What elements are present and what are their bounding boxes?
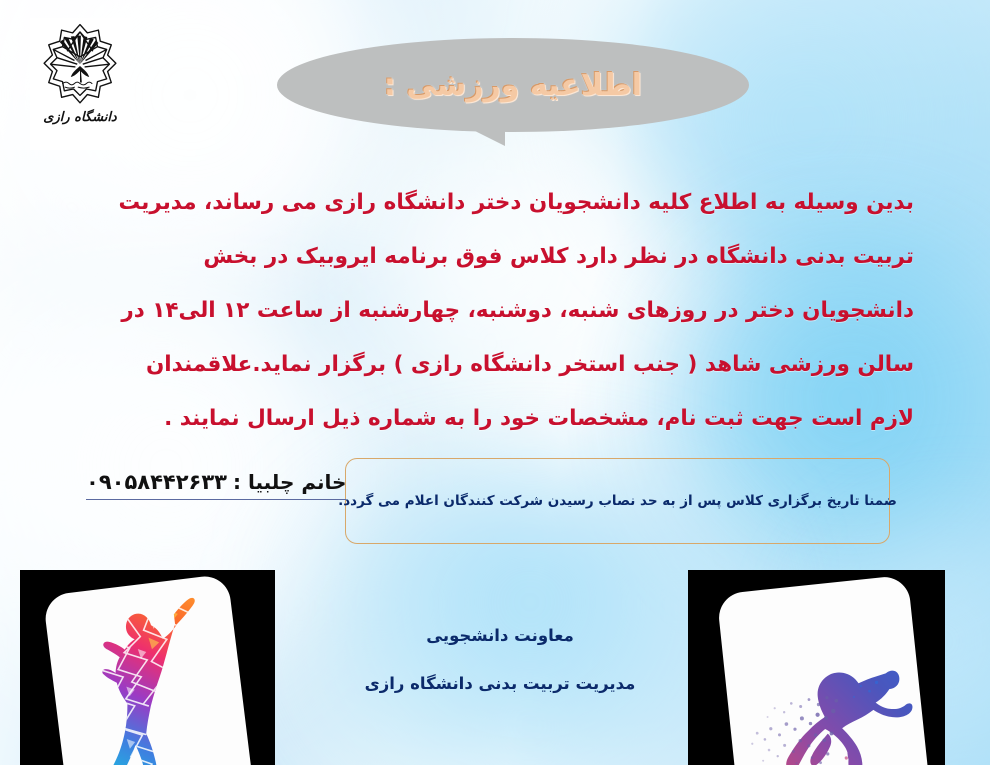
headline-bubble: اطلاعیه ورزشی : [277,38,749,156]
body-line-4: سالن ورزشی شاهد ( جنب استخر دانشگاه رازی… [78,338,914,392]
photo-jumping-athlete [20,570,275,765]
announcement-body: بدین وسیله به اطلاع کلیه دانشجویان دختر … [78,176,914,446]
contact-name-label: خانم چلبیا : [233,470,346,494]
body-line-2: تربیت بدنی دانشگاه در نظر دارد کلاس فوق … [78,230,914,284]
signature-line-2: مدیریت تربیت بدنی دانشگاه رازی [330,660,670,708]
signature-block: معاونت دانشجویی مدیریت تربیت بدنی دانشگا… [330,612,670,708]
announcement-poster: دانشگاه رازی اطلاعیه ورزشی : بدین وسیله … [0,0,990,765]
body-line-5-text: لازم است جهت ثبت نام، مشخصات خود را به ش… [164,392,914,446]
razi-university-seal-icon [34,18,126,114]
body-line-3-text: دانشجویان دختر در روزهای شنبه، دوشنبه، چ… [121,284,914,338]
particle-running-athlete-silhouette-icon [717,575,932,765]
body-line-5: لازم است جهت ثبت نام، مشخصات خود را به ش… [78,392,914,446]
body-line-1-text: بدین وسیله به اطلاع کلیه دانشجویان دختر … [119,176,914,230]
bubble-body: اطلاعیه ورزشی : [277,38,749,132]
photo-running-athlete [688,570,945,765]
page-title: اطلاعیه ورزشی : [384,68,642,103]
body-line-1: بدین وسیله به اطلاع کلیه دانشجویان دختر … [78,176,914,230]
body-line-2-text: تربیت بدنی دانشگاه در نظر دارد کلاس فوق … [203,230,914,284]
photo-card-left [43,574,256,765]
photo-card-right [717,575,932,765]
body-line-4-text: سالن ورزشی شاهد ( جنب استخر دانشگاه رازی… [146,338,914,392]
signature-line-1: معاونت دانشجویی [330,612,670,660]
logo-caption: دانشگاه رازی [43,110,116,125]
contact-phone-number[interactable]: ۰۹۰۵۸۴۴۲۶۳۳ [86,470,227,494]
colorful-jumping-athlete-silhouette-icon [43,574,256,765]
body-line-3: دانشجویان دختر در روزهای شنبه، دوشنبه، چ… [78,284,914,338]
note-text: ضمنا تاریخ برگزاری کلاس پس از به حد نصاب… [324,491,911,511]
note-box: ضمنا تاریخ برگزاری کلاس پس از به حد نصاب… [345,458,890,544]
contact-line[interactable]: خانم چلبیا : ۰۹۰۵۸۴۴۲۶۳۳ [86,470,346,500]
university-logo: دانشگاه رازی [30,18,130,150]
